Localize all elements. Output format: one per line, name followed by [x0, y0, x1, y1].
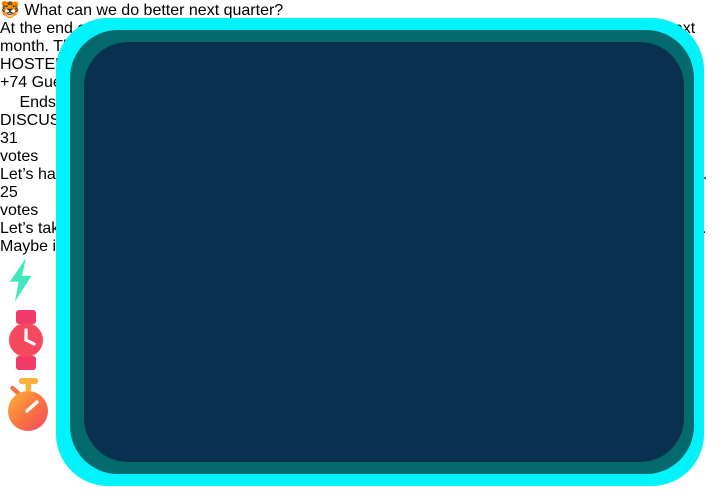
tiger-face-icon: 🐯	[0, 2, 20, 19]
page-title: What can we do better next quarter?	[24, 2, 283, 19]
lightning-bolt-icon	[0, 291, 40, 308]
stopwatch-icon	[0, 421, 56, 438]
screenshot-stage: 🐯 What can we do better next quarter? At…	[0, 0, 728, 503]
frame-layer-navy-outer	[84, 42, 684, 462]
title-row: 🐯 What can we do better next quarter?	[0, 0, 728, 20]
stopwatch-icon	[0, 94, 19, 111]
wristwatch-icon	[0, 358, 52, 375]
